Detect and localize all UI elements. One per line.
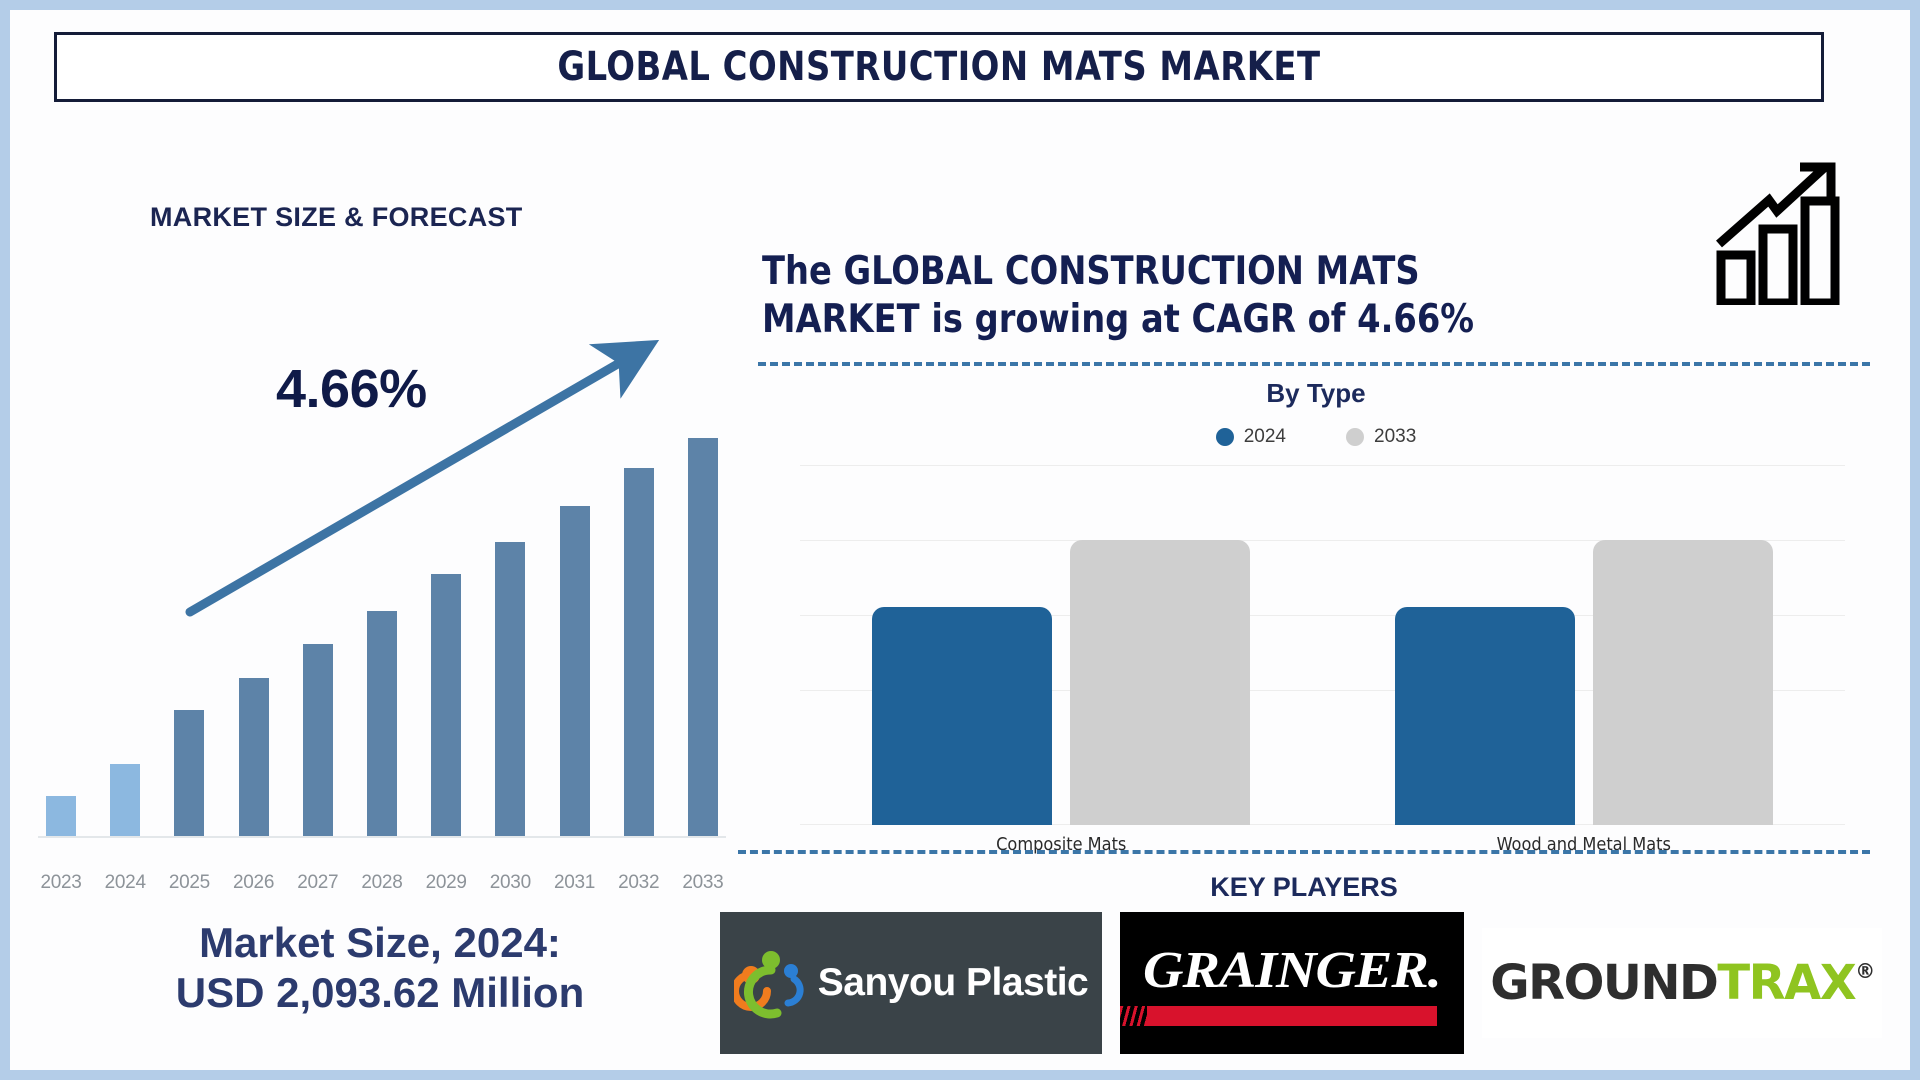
forecast-year-labels: 2023202420252026202720282029203020312032… [38, 872, 726, 894]
legend-label: 2024 [1244, 426, 1286, 448]
forecast-year-label: 2026 [233, 872, 275, 894]
by-type-title: By Type [762, 378, 1870, 409]
market-size-forecast-chart: 4.66% 2023202420252026202720282029203020… [38, 340, 726, 860]
forecast-bar [560, 506, 590, 836]
cagr-headline-line2: MARKET is growing at CAGR of 4.66% [762, 296, 1559, 344]
forecast-bar [239, 678, 269, 836]
by-type-cluster: Composite Mats [872, 540, 1250, 825]
by-type-bar [1070, 540, 1250, 825]
logo-groundtrax[interactable]: GROUND TRAX ® [1482, 928, 1882, 1038]
forecast-bar [303, 644, 333, 836]
forecast-year-label: 2023 [40, 872, 82, 894]
by-type-chart: Composite MatsWood and Metal Mats [800, 465, 1845, 825]
market-size-value-block: Market Size, 2024: USD 2,093.62 Million [50, 918, 710, 1019]
forecast-bar [688, 438, 718, 836]
legend-color-dot [1216, 428, 1234, 446]
infographic-page: GLOBAL CONSTRUCTION MATS MARKET MARKET S… [0, 0, 1920, 1080]
cagr-headline: The GLOBAL CONSTRUCTION MATS MARKET is g… [762, 248, 1559, 343]
logo-groundtrax-part2: TRAX [1717, 955, 1855, 1011]
forecast-bar [110, 764, 140, 836]
forecast-bar [367, 611, 397, 836]
legend-color-dot [1346, 428, 1364, 446]
page-inner: GLOBAL CONSTRUCTION MATS MARKET MARKET S… [10, 10, 1910, 1070]
registered-trademark-icon: ® [1855, 959, 1874, 983]
logo-sanyou-text: Sanyou Plastic [818, 961, 1088, 1005]
forecast-year-label: 2031 [554, 872, 596, 894]
divider-top [758, 362, 1870, 366]
title-box: GLOBAL CONSTRUCTION MATS MARKET [54, 32, 1824, 102]
forecast-year-label: 2025 [168, 872, 210, 894]
sanyou-mark-icon [734, 946, 808, 1020]
logo-grainger-text: GRAINGER. [1143, 941, 1441, 1000]
divider-bottom [738, 850, 1870, 854]
logo-sanyou-plastic[interactable]: Sanyou Plastic [720, 912, 1102, 1054]
forecast-bar [495, 542, 525, 836]
legend-item[interactable]: 2024 [1216, 426, 1286, 448]
forecast-bar [624, 468, 654, 836]
logo-groundtrax-text: GROUND TRAX ® [1490, 955, 1874, 1011]
key-players-logos: Sanyou Plastic GRAINGER. GROUND TRAX ® [720, 908, 1885, 1058]
by-type-cluster: Wood and Metal Mats [1395, 540, 1773, 825]
legend-item[interactable]: 2033 [1346, 426, 1416, 448]
chart-axis-line [38, 836, 726, 838]
logo-grainger[interactable]: GRAINGER. [1120, 912, 1464, 1054]
forecast-year-label: 2027 [297, 872, 339, 894]
market-size-value: USD 2,093.62 Million [50, 968, 710, 1018]
logo-grainger-accent-bar [1147, 1006, 1437, 1026]
forecast-year-label: 2024 [104, 872, 146, 894]
forecast-bar [46, 796, 76, 836]
by-type-bar [1395, 607, 1575, 825]
forecast-bar [431, 574, 461, 836]
forecast-year-label: 2030 [489, 872, 531, 894]
market-size-label: Market Size, 2024: [50, 918, 710, 968]
forecast-year-label: 2032 [618, 872, 660, 894]
forecast-bar [174, 710, 204, 836]
key-players-title: KEY PLAYERS [738, 872, 1870, 903]
forecast-year-label: 2029 [425, 872, 467, 894]
forecast-year-label: 2028 [361, 872, 403, 894]
growth-chart-arrow-icon [1707, 145, 1852, 305]
by-type-bar [1593, 540, 1773, 825]
cagr-headline-line1: The GLOBAL CONSTRUCTION MATS [762, 248, 1559, 296]
market-size-forecast-heading: MARKET SIZE & FORECAST [150, 202, 523, 233]
by-type-bar [872, 607, 1052, 825]
forecast-year-label: 2033 [682, 872, 724, 894]
legend-label: 2033 [1374, 426, 1416, 448]
by-type-legend: 20242033 [762, 426, 1870, 448]
logo-grainger-stripes [1120, 1006, 1147, 1026]
logo-groundtrax-part1: GROUND [1490, 955, 1717, 1011]
page-title: GLOBAL CONSTRUCTION MATS MARKET [557, 44, 1320, 90]
forecast-bars [38, 356, 726, 836]
